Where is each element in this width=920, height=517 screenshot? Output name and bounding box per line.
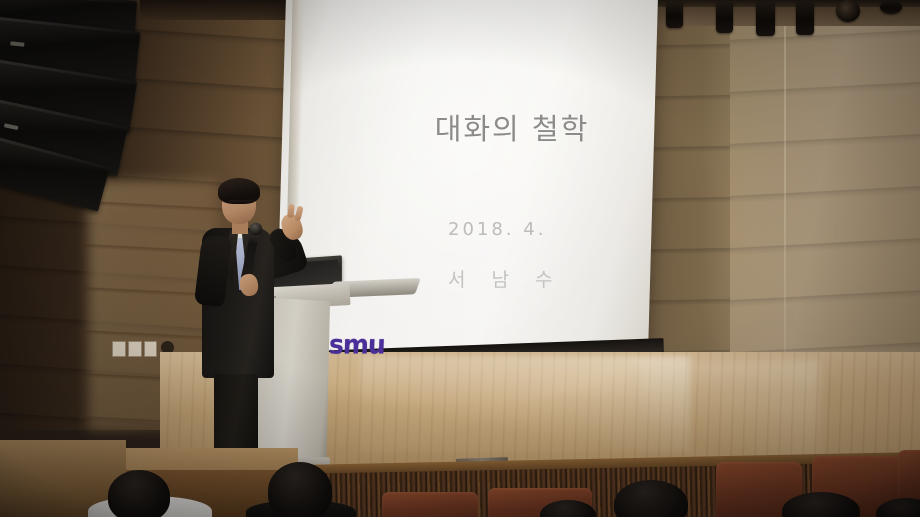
wall-outlet-plate: [144, 341, 157, 357]
audience-member-head: [268, 462, 332, 517]
smu-logo: smu: [328, 329, 385, 359]
ceiling-stage-light: [880, 0, 902, 14]
slide-title: 대화의 철학: [412, 106, 612, 148]
speaker-brand-badge: [10, 41, 24, 46]
ceiling-stage-light: [756, 2, 775, 36]
slide-author: 서 남 수: [448, 265, 563, 292]
wall-outlet-plate: [128, 341, 142, 357]
presenter: [196, 176, 316, 476]
ceiling-stage-light: [666, 2, 683, 28]
slide-date: 2018. 4.: [448, 219, 546, 240]
ceiling-stage-light: [716, 2, 733, 33]
ceiling-stage-light: [796, 2, 814, 35]
stage-floor-reflection: [640, 360, 820, 465]
presenter-glasses: [228, 200, 254, 208]
wall-corner-edge: [784, 0, 786, 392]
speaker-brand-badge: [3, 123, 18, 130]
speaker-top-highlight: [0, 0, 137, 4]
projection-screen: [275, 0, 658, 374]
presenter-finger: [294, 205, 303, 221]
lecture-hall-photo: 대화의 철학 2018. 4. 서 남 수 smu: [0, 0, 920, 517]
auditorium-seat: [382, 492, 478, 517]
ceiling-stage-light: [836, 0, 860, 22]
audience-member-head: [108, 470, 170, 517]
wall-outlet-plate: [112, 341, 126, 357]
